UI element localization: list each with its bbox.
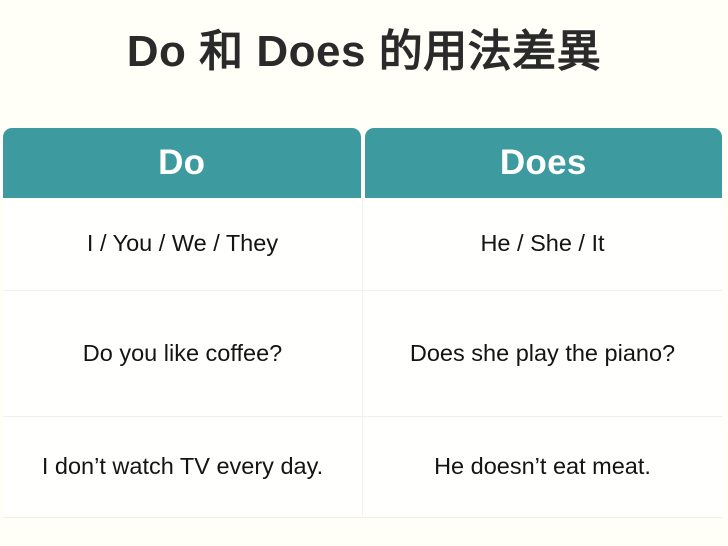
cell-text: I / You / We / They: [87, 228, 278, 259]
cell-text: He doesn’t eat meat.: [434, 451, 651, 482]
table-header-does: Does: [365, 128, 723, 198]
infographic-page: Do 和 Does 的用法差異 Do Does I / You / We / T…: [0, 0, 728, 546]
table-body: I / You / We / They He / She / It Do you…: [3, 198, 722, 518]
cell-text: Does she play the piano?: [410, 338, 675, 369]
comparison-table: Do Does I / You / We / They He / She / I…: [3, 128, 722, 518]
table-row: Do you like coffee? Does she play the pi…: [3, 291, 722, 417]
page-title: Do 和 Does 的用法差異: [0, 28, 728, 76]
cell-does-subjects: He / She / It: [363, 198, 722, 290]
cell-text: I don’t watch TV every day.: [42, 451, 323, 482]
table-row: I don’t watch TV every day. He doesn’t e…: [3, 417, 722, 518]
table-row: I / You / We / They He / She / It: [3, 198, 722, 291]
table-header-do: Do: [3, 128, 361, 198]
cell-text: Do you like coffee?: [83, 338, 282, 369]
cell-does-negative-example: He doesn’t eat meat.: [363, 417, 722, 517]
table-header-row: Do Does: [3, 128, 722, 198]
cell-do-question-example: Do you like coffee?: [3, 291, 363, 416]
cell-text: He / She / It: [480, 228, 604, 259]
cell-does-question-example: Does she play the piano?: [363, 291, 722, 416]
cell-do-subjects: I / You / We / They: [3, 198, 363, 290]
cell-do-negative-example: I don’t watch TV every day.: [3, 417, 363, 517]
